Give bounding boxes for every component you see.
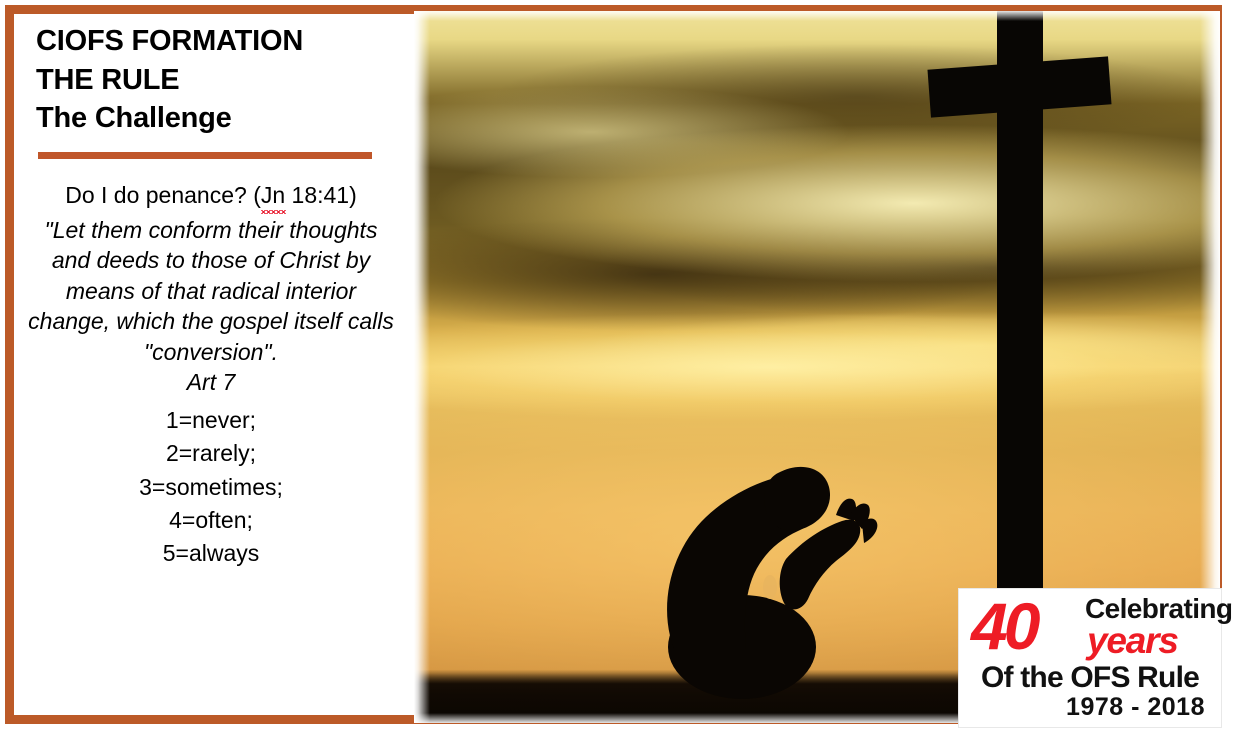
logo-year-span: 1978 - 2018 xyxy=(969,694,1211,722)
list-item: 4=often; xyxy=(22,504,400,537)
list-item: 1=never; xyxy=(22,404,400,437)
question-prefix: Do I do penance? ( xyxy=(65,182,261,208)
list-item: 5=always xyxy=(22,537,400,570)
question-line: Do I do penance? (Jn 18:41) xyxy=(22,181,400,211)
logo-number-40: 40 xyxy=(971,593,1036,659)
cross-silhouette-icon xyxy=(929,11,1109,631)
rating-scale-list: 1=never; 2=rarely; 3=sometimes; 4=often;… xyxy=(22,404,400,571)
rule-quote: "Let them conform their thoughts and dee… xyxy=(22,215,400,368)
anniversary-logo: 40 Celebrating years Of the OFS Rule 197… xyxy=(958,588,1222,728)
page-title-line-1: CIOFS FORMATION xyxy=(36,22,400,61)
cross-horizontal-beam xyxy=(927,56,1111,117)
title-block: CIOFS FORMATION THE RULE The Challenge xyxy=(22,14,400,138)
body-block: Do I do penance? (Jn 18:41) "Let them co… xyxy=(22,181,400,571)
praying-figure-silhouette-icon xyxy=(610,411,910,711)
logo-top-row: 40 Celebrating years xyxy=(969,595,1211,661)
title-divider xyxy=(38,152,372,159)
text-column: CIOFS FORMATION THE RULE The Challenge D… xyxy=(22,14,400,714)
question-suffix: 18:41) xyxy=(285,182,357,208)
logo-years-text: years xyxy=(1087,622,1178,659)
logo-rule-line: Of the OFS Rule xyxy=(969,662,1211,694)
page-title-line-3: The Challenge xyxy=(36,99,400,138)
quote-citation: Art 7 xyxy=(22,367,400,398)
list-item: 3=sometimes; xyxy=(22,471,400,504)
spellcheck-word: Jn xyxy=(261,181,285,211)
slide: CIOFS FORMATION THE RULE The Challenge D… xyxy=(0,0,1234,738)
logo-celebrating-text: Celebrating xyxy=(1085,595,1232,623)
list-item: 2=rarely; xyxy=(22,437,400,470)
page-title-line-2: THE RULE xyxy=(36,61,400,100)
